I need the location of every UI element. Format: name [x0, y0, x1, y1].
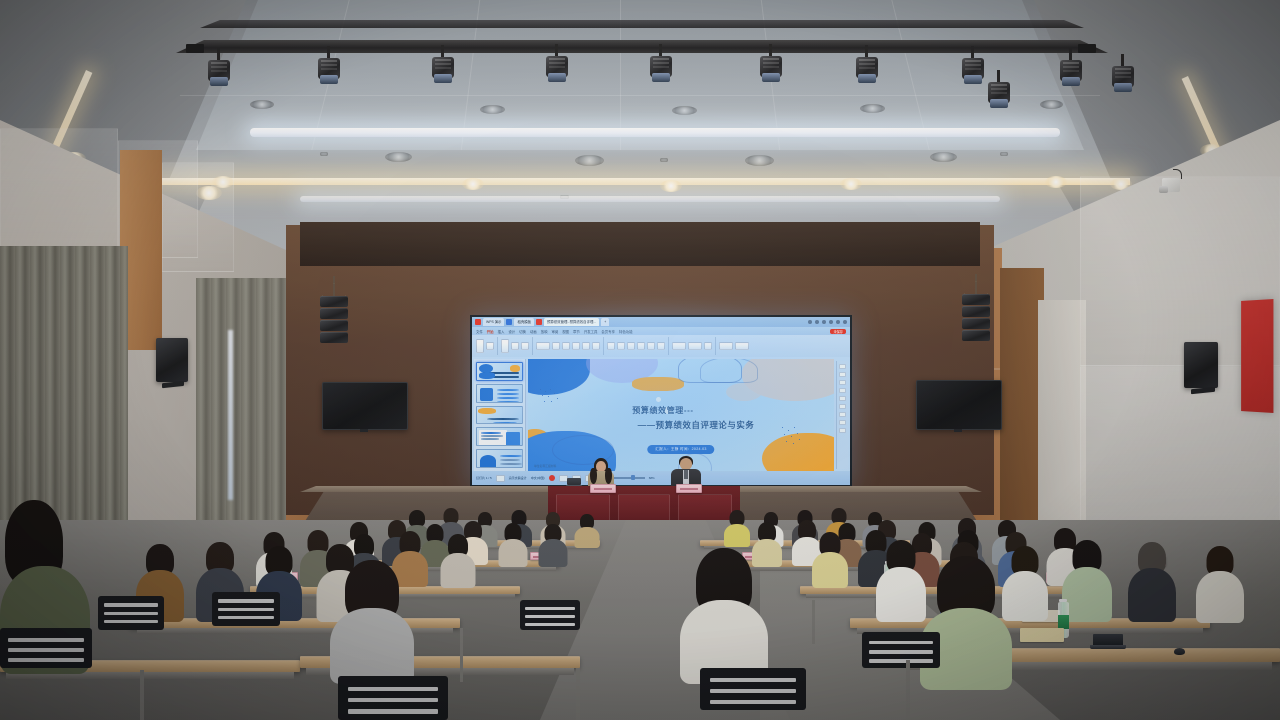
air-diffuser: [860, 104, 885, 113]
audience-member: [440, 534, 475, 586]
presentation-screen[interactable]: WPS 演示 稻壳模板 预算绩效管理--预算绩效自评理... + 文件: [470, 315, 852, 487]
menu-item-8[interactable]: 视图: [562, 329, 569, 334]
ppt-file-icon: [536, 319, 542, 325]
stage-spotlight: [650, 56, 672, 86]
audience-member: [724, 510, 750, 545]
format-painter-icon[interactable]: [486, 342, 494, 350]
stage-spotlight: [988, 82, 1010, 112]
rail-tool-4-icon[interactable]: [839, 388, 846, 393]
menu-item-11[interactable]: 会员专享: [601, 329, 615, 334]
rail-tool-2-icon[interactable]: [839, 372, 846, 377]
stage-spotlight: [432, 57, 454, 87]
ribbon-group-slides[interactable]: [501, 337, 533, 355]
new-tab-icon[interactable]: +: [601, 318, 609, 326]
rail-tool-1-icon[interactable]: [839, 364, 846, 369]
air-diffuser: [385, 152, 412, 162]
new-slide-icon[interactable]: [501, 339, 509, 353]
acoustic-panel: [0, 128, 118, 248]
line-spacing-icon[interactable]: [657, 342, 665, 350]
stage-spotlight: [962, 58, 984, 88]
paste-icon[interactable]: [476, 339, 484, 353]
security-camera: [1162, 178, 1184, 194]
air-diffuser: [1040, 100, 1063, 109]
air-diffuser: [745, 155, 774, 166]
slide-thumbnail-panel[interactable]: [474, 359, 526, 471]
line-array-speaker: [962, 294, 990, 342]
decor-blob-orange-top: [632, 377, 684, 391]
fill-color-icon[interactable]: [704, 342, 712, 350]
slide-title-line-1: 预算绩效管理---: [528, 405, 834, 416]
slide-thumbnail-4[interactable]: [476, 427, 523, 446]
stage-spotlight: [1060, 60, 1082, 90]
wall-display-tv: [916, 380, 1002, 430]
menu-item-4[interactable]: 切换: [519, 329, 526, 334]
window-tab-0[interactable]: WPS 演示: [483, 318, 504, 326]
line-array-speaker: [320, 296, 348, 344]
rail-tool-7-icon[interactable]: [839, 412, 846, 417]
table-leg: [906, 660, 910, 720]
slide-footer-note: 单位名称汇报材料: [534, 464, 556, 468]
stage-soffit: [300, 222, 980, 266]
audience-member: [1128, 542, 1176, 620]
font-color-icon[interactable]: [592, 342, 600, 350]
slide-title-line-2: ——预算绩效自评理论与实务: [558, 419, 834, 431]
sprinkler-head: [1000, 152, 1008, 156]
wps-office-window[interactable]: WPS 演示 稻壳模板 预算绩效管理--预算绩效自评理... + 文件: [472, 317, 850, 485]
template-design-icon[interactable]: [496, 475, 505, 482]
audience-chair: [98, 596, 164, 630]
settings-icon[interactable]: [822, 320, 826, 324]
arrange-icon[interactable]: [688, 342, 702, 350]
window-light-gap: [228, 330, 233, 500]
slide-thumbnail-2[interactable]: [476, 384, 523, 403]
audience-laptop: [1090, 634, 1126, 650]
surround-speaker: [1184, 342, 1218, 388]
wps-logo-icon: [475, 319, 481, 325]
template-label[interactable]: 演示文稿设计: [509, 476, 527, 480]
find-icon[interactable]: [719, 342, 733, 350]
table-leg: [140, 670, 144, 720]
slide-canvas[interactable]: 预算绩效管理--- ——预算绩效自评理论与实务 汇报人：王静 时间：2024.0…: [528, 359, 834, 471]
share-icon[interactable]: [815, 320, 819, 324]
bold-icon[interactable]: [562, 342, 570, 350]
record-icon[interactable]: [549, 475, 555, 481]
window-tab-2[interactable]: 预算绩效管理--预算绩效自评理...: [544, 318, 599, 326]
rail-tool-3-icon[interactable]: [839, 380, 846, 385]
layout-icon[interactable]: [511, 342, 519, 350]
decor-dot: [656, 397, 661, 402]
align-right-icon[interactable]: [647, 342, 655, 350]
underline-icon[interactable]: [582, 342, 590, 350]
wall-display-tv: [322, 382, 408, 430]
computer-mouse: [1174, 648, 1185, 655]
stage-spotlight: [1112, 66, 1134, 96]
audience-member: [574, 514, 599, 546]
align-center-icon[interactable]: [637, 342, 645, 350]
zoom-level[interactable]: 68%: [649, 476, 655, 480]
audience-chair: [700, 668, 806, 710]
align-left-icon[interactable]: [627, 342, 635, 350]
menu-item-0[interactable]: 文件: [476, 329, 483, 334]
bullet-list-icon[interactable]: [607, 342, 615, 350]
sprinkler-head: [660, 158, 668, 162]
air-diffuser: [930, 152, 957, 162]
audience-chair: [0, 628, 92, 668]
font-size-field[interactable]: [552, 342, 560, 350]
air-diffuser: [672, 106, 697, 115]
wall-alcove: [1038, 300, 1086, 520]
audience-member-front: [680, 548, 768, 676]
table-leg: [460, 628, 463, 682]
window-tab-1[interactable]: 稻壳模板: [514, 318, 534, 326]
audience-chair: [520, 600, 580, 630]
podium-panel: [618, 494, 670, 522]
rail-tool-5-icon[interactable]: [839, 396, 846, 401]
menu-item-5[interactable]: 动画: [530, 329, 537, 334]
maximize-icon[interactable]: [836, 320, 840, 324]
led-strip-light: [250, 128, 1060, 137]
truss-clamp: [186, 44, 204, 53]
wps-menu-bar[interactable]: 文件 开始 插入 设计 切换 动画 放映 审阅 视图 章节 开发工具 会员专享 …: [472, 327, 850, 335]
ribbon-group-editing[interactable]: [719, 337, 752, 355]
audience-member: [1062, 540, 1112, 620]
table-leg: [576, 668, 580, 720]
truss-clamp: [1078, 44, 1096, 53]
audience-member: [812, 532, 848, 586]
wps-title-bar: WPS 演示 稻壳模板 预算绩效管理--预算绩效自评理... +: [472, 317, 850, 327]
ribbon-group-paragraph[interactable]: [607, 337, 669, 355]
italic-icon[interactable]: [572, 342, 580, 350]
ribbon-group-drawing[interactable]: [672, 337, 716, 355]
wps-status-bar[interactable]: 幻灯片 1 / 5 演示文稿设计 中文(中国) 68%: [472, 471, 850, 485]
menu-item-9[interactable]: 章节: [573, 329, 580, 334]
downlight: [840, 178, 862, 190]
ceiling-truss-upper: [200, 20, 1084, 28]
table-leg: [812, 600, 815, 644]
acoustic-panel: [162, 162, 234, 272]
menu-item-2[interactable]: 插入: [498, 329, 505, 334]
numbered-list-icon[interactable]: [617, 342, 625, 350]
close-icon[interactable]: [843, 320, 847, 324]
template-icon: [506, 319, 512, 325]
slide-thumbnail-1[interactable]: [476, 362, 523, 381]
decor-blob-gray-small: [726, 383, 762, 401]
font-name-field[interactable]: [536, 342, 550, 350]
rail-tool-8-icon[interactable]: [839, 420, 846, 425]
slide-thumbnail-5[interactable]: [476, 449, 523, 468]
slide-thumbnail-3[interactable]: [476, 406, 523, 425]
audience-chair: [338, 676, 448, 720]
menu-item-1[interactable]: 开始: [487, 329, 494, 334]
conference-hall-photo: WPS 演示 稻壳模板 预算绩效管理--预算绩效自评理... + 文件: [0, 0, 1280, 720]
slide-counter: 幻灯片 1 / 5: [476, 476, 492, 480]
notepad: [1020, 628, 1064, 642]
audience-member: [876, 540, 926, 620]
ceiling-truss: [176, 40, 1108, 53]
audience-chair: [862, 632, 940, 668]
slide-side-toolbar[interactable]: [836, 361, 848, 469]
section-icon[interactable]: [521, 342, 529, 350]
wps-ribbon[interactable]: [472, 335, 850, 357]
minimize-icon[interactable]: [829, 320, 833, 324]
downlight: [660, 180, 682, 192]
presenter-name-placard: [590, 484, 616, 493]
sprinkler-head: [320, 152, 328, 156]
stage-spotlight: [856, 57, 878, 87]
downlight: [1045, 176, 1067, 188]
audience-member: [538, 524, 567, 565]
stage-spotlight: [760, 56, 782, 86]
air-diffuser: [480, 105, 505, 114]
led-strip-light: [300, 196, 1000, 202]
help-icon[interactable]: [808, 320, 812, 324]
stage-spotlight: [546, 56, 568, 86]
surround-speaker: [156, 338, 188, 382]
audience-member: [1196, 546, 1244, 620]
audience-chair: [212, 592, 280, 626]
window-controls[interactable]: [808, 320, 847, 324]
air-diffuser: [250, 100, 274, 109]
downlight: [462, 178, 484, 190]
save-status-button[interactable]: 未保存: [830, 329, 846, 334]
menu-item-10[interactable]: 开发工具: [584, 329, 598, 334]
presenter-name-placard: [676, 484, 702, 493]
stage-spotlight: [208, 60, 230, 90]
menu-item-3[interactable]: 设计: [508, 329, 515, 334]
menu-item-12[interactable]: 特色功能: [619, 329, 633, 334]
decor-dot-cluster-left: [540, 389, 564, 405]
rail-tool-9-icon[interactable]: [839, 428, 846, 433]
audience-member: [498, 523, 527, 565]
shapes-icon[interactable]: [672, 342, 686, 350]
replace-icon[interactable]: [735, 342, 749, 350]
stage-spotlight: [318, 58, 340, 88]
menu-item-6[interactable]: 放映: [541, 329, 548, 334]
slide-title-block: 预算绩效管理--- ——预算绩效自评理论与实务: [528, 405, 834, 431]
rail-tool-6-icon[interactable]: [839, 404, 846, 409]
audience-member-front: [330, 560, 414, 676]
decor-ring-line: [700, 359, 758, 383]
ribbon-group-clipboard[interactable]: [476, 337, 498, 355]
presenter-badge: 汇报人：王静 时间：2024.03: [647, 445, 714, 454]
air-diffuser: [575, 155, 604, 166]
red-wall-panel: [1241, 299, 1273, 413]
ribbon-group-font[interactable]: [536, 337, 604, 355]
cove-light: [150, 178, 1130, 185]
ceiling-tile-line: [180, 95, 1100, 96]
menu-item-7[interactable]: 审阅: [551, 329, 558, 334]
language-label[interactable]: 中文(中国): [531, 476, 545, 480]
